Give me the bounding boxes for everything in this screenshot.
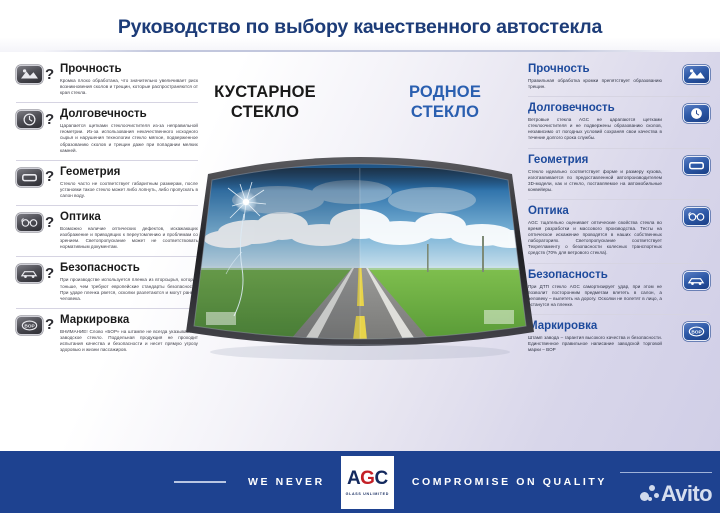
icon-group: ВОР bbox=[683, 322, 710, 341]
feature-marking-bad: ВОР ? Маркировка ВНИМАНИЕ! Слово «БОР» н… bbox=[16, 308, 198, 359]
feature-title: Оптика bbox=[528, 205, 662, 218]
feature-title: Безопасность bbox=[528, 269, 662, 282]
feature-title: Маркировка bbox=[60, 314, 198, 327]
title-bar: Руководство по выбору качественного авто… bbox=[0, 0, 720, 52]
label-line-2: СТЕКЛО bbox=[231, 103, 299, 121]
feature-title: Долговечность bbox=[528, 102, 662, 115]
feature-title: Оптика bbox=[60, 211, 198, 224]
icon-group: ? bbox=[16, 65, 54, 84]
icon-group: ? bbox=[16, 168, 54, 187]
feature-durability-good: Долговечность Ветровые стекла AGC не цар… bbox=[528, 96, 710, 147]
crash-safety-icon bbox=[16, 264, 43, 283]
crash-safety-icon bbox=[683, 271, 710, 290]
label-line-2: СТЕКЛО bbox=[411, 103, 479, 121]
clock-wear-icon bbox=[16, 110, 43, 129]
feature-body: Правильная обработка кромки препятствует… bbox=[528, 78, 662, 90]
feature-body: Царапается щетками стеклоочистителя из-з… bbox=[60, 123, 198, 153]
agc-wordmark: AGC bbox=[347, 469, 388, 489]
feature-strength-good: Прочность Правильная обработка кромки пр… bbox=[528, 58, 710, 96]
feature-optics-good: Оптика AGC тщательно оценивает оптически… bbox=[528, 199, 710, 263]
icon-group: ВОР ? bbox=[16, 316, 54, 335]
left-column-aftermarket: ? Прочность Кромка плохо обработана, что… bbox=[16, 58, 198, 359]
footer-divider-line bbox=[174, 481, 226, 483]
title-divider bbox=[42, 50, 678, 52]
question-mark-icon: ? bbox=[45, 112, 54, 128]
feature-body: Штамп завода – гарантия высокого качеств… bbox=[528, 335, 662, 353]
feature-title: Маркировка bbox=[528, 320, 662, 333]
avito-wordmark: Avito bbox=[661, 481, 712, 507]
label-genuine-glass: РОДНОЕ СТЕКЛО bbox=[370, 82, 520, 122]
feature-safety-good: Безопасность При ДТП стекло AGC самортиз… bbox=[528, 263, 710, 314]
question-mark-icon: ? bbox=[45, 169, 54, 185]
feature-title: Прочность bbox=[60, 63, 198, 76]
agc-logo: AGC GLASS UNLIMITED bbox=[341, 456, 394, 509]
label-aftermarket-glass: КУСТАРНОЕ СТЕКЛО bbox=[190, 82, 340, 122]
chipped-edge-icon bbox=[16, 65, 43, 84]
icon-group: ? bbox=[16, 110, 54, 129]
glass-shape-icon bbox=[16, 168, 43, 187]
agc-letter-g: G bbox=[360, 468, 374, 489]
feature-body: При ДТП стекло AGC самортизирует удар, п… bbox=[528, 284, 662, 308]
feature-title: Геометрия bbox=[528, 154, 662, 167]
center-comparison: КУСТАРНОЕ СТЕКЛО РОДНОЕ СТЕКЛО bbox=[182, 56, 538, 436]
feature-body: Ветровые стекла AGC не царапаются щеткам… bbox=[528, 117, 662, 141]
feature-body: Стекло часто не соответствует габаритным… bbox=[60, 181, 198, 199]
icon-group bbox=[683, 104, 710, 123]
right-column-agc: Прочность Правильная обработка кромки пр… bbox=[528, 58, 710, 359]
glasses-optics-icon bbox=[16, 213, 43, 232]
feature-title: Долговечность bbox=[60, 108, 198, 121]
question-mark-icon: ? bbox=[45, 215, 54, 231]
windshield-illustration bbox=[182, 140, 538, 368]
watermark-divider bbox=[620, 472, 712, 474]
agc-letter-a: A bbox=[347, 468, 360, 489]
clock-wear-icon bbox=[683, 104, 710, 123]
avito-dots-icon bbox=[640, 484, 660, 504]
feature-optics-bad: ? Оптика Возможно наличие оптических деф… bbox=[16, 205, 198, 256]
icon-group bbox=[683, 65, 710, 84]
slogan-left: WE NEVER bbox=[248, 476, 325, 488]
agc-tagline: GLASS UNLIMITED bbox=[346, 492, 389, 496]
label-line-1: РОДНОЕ bbox=[409, 83, 481, 101]
footer-banner: WE NEVER AGC GLASS UNLIMITED COMPROMISE … bbox=[0, 451, 720, 513]
feature-body: Стекло идеально соответствует форме и ра… bbox=[528, 169, 662, 193]
svg-text:ВОР: ВОР bbox=[24, 323, 35, 329]
label-line-1: КУСТАРНОЕ bbox=[214, 83, 316, 101]
question-mark-icon: ? bbox=[45, 67, 54, 83]
feature-safety-bad: ? Безопасность При производстве использу… bbox=[16, 256, 198, 307]
feature-geometry-bad: ? Геометрия Стекло часто не соответствуе… bbox=[16, 160, 198, 205]
feature-title: Прочность bbox=[528, 63, 662, 76]
icon-group: ? bbox=[16, 213, 54, 232]
infographic-page: Руководство по выбору качественного авто… bbox=[0, 0, 720, 513]
bor-stamp-icon: ВОР bbox=[16, 316, 43, 335]
feature-durability-bad: ? Долговечность Царапается щетками стекл… bbox=[16, 102, 198, 159]
feature-marking-good: ВОР Маркировка Штамп завода – гарантия в… bbox=[528, 314, 710, 359]
bor-stamp-icon: ВОР bbox=[683, 322, 710, 341]
feature-body: Возможно наличие оптических дефектов, ис… bbox=[60, 226, 198, 250]
chipped-edge-icon bbox=[683, 65, 710, 84]
glass-shape-icon bbox=[683, 156, 710, 175]
feature-body: ВНИМАНИЕ! Слово «БОР» на штампе не всегд… bbox=[60, 329, 198, 353]
feature-title: Безопасность bbox=[60, 262, 198, 275]
glasses-optics-icon bbox=[683, 207, 710, 226]
feature-body: При производстве используется пленка из … bbox=[60, 277, 198, 301]
feature-strength-bad: ? Прочность Кромка плохо обработана, что… bbox=[16, 58, 198, 102]
question-mark-icon: ? bbox=[45, 317, 54, 333]
avito-watermark: Avito bbox=[640, 481, 712, 507]
icon-group: ? bbox=[16, 264, 54, 283]
page-title: Руководство по выбору качественного авто… bbox=[0, 16, 720, 39]
feature-body: Кромка плохо обработана, что значительно… bbox=[60, 78, 198, 96]
feature-geometry-good: Геометрия Стекло идеально соответствует … bbox=[528, 148, 710, 199]
feature-title: Геометрия bbox=[60, 166, 198, 179]
svg-text:ВОР: ВОР bbox=[691, 329, 702, 335]
glass-stamp-right bbox=[484, 310, 514, 324]
agc-letter-c: C bbox=[374, 468, 387, 489]
question-mark-icon: ? bbox=[45, 266, 54, 282]
slogan-right: COMPROMISE ON QUALITY bbox=[412, 476, 607, 488]
icon-group bbox=[683, 207, 710, 226]
feature-body: AGC тщательно оценивает оптические свойс… bbox=[528, 220, 662, 257]
glass-stamp-left bbox=[206, 312, 236, 325]
icon-group bbox=[683, 271, 710, 290]
icon-group bbox=[683, 156, 710, 175]
